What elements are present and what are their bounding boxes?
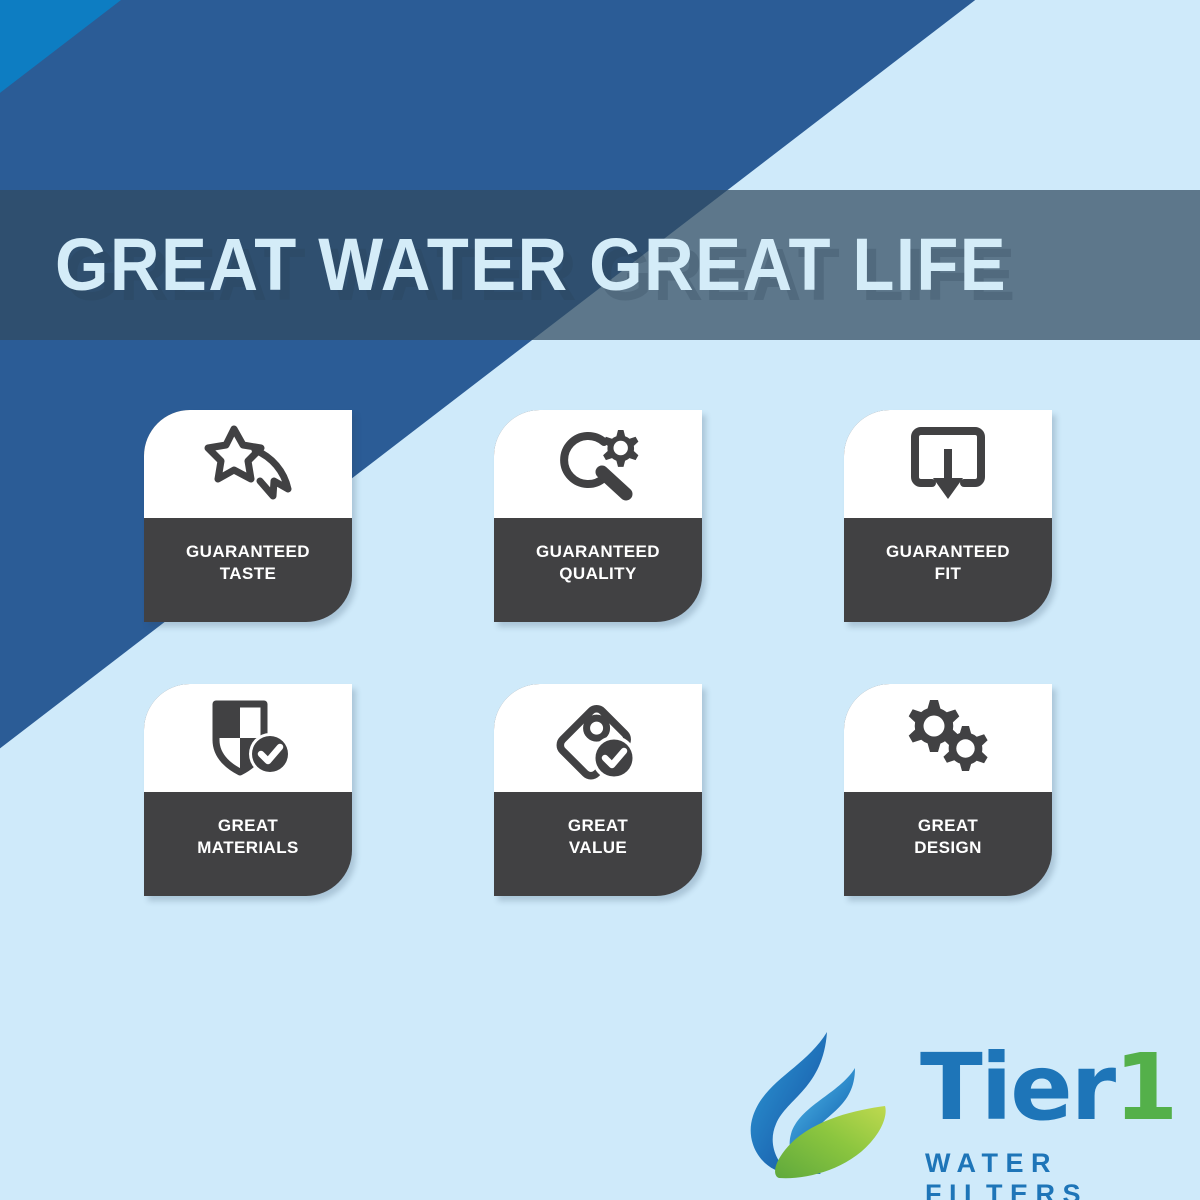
icon-panel [844, 684, 1052, 792]
card-label: GUARANTEED FIT [844, 518, 1052, 622]
card-label: GREAT VALUE [494, 792, 702, 896]
icon-panel [494, 684, 702, 792]
magnifier-gear-icon [550, 422, 646, 506]
feature-card-great-design[interactable]: GREAT DESIGN [844, 684, 1052, 896]
card-label: GUARANTEED TASTE [144, 518, 352, 622]
icon-panel [494, 410, 702, 518]
card-label: GUARANTEED QUALITY [494, 518, 702, 622]
feature-card-guaranteed-fit[interactable]: GUARANTEED FIT [844, 410, 1052, 622]
feature-card-guaranteed-taste[interactable]: GUARANTEED TASTE [144, 410, 352, 622]
icon-panel [144, 684, 352, 792]
feature-card-great-value[interactable]: GREAT VALUE [494, 684, 702, 896]
water-drop-leaf-icon [735, 1024, 905, 1189]
icon-panel [144, 410, 352, 518]
two-gears-icon [900, 696, 996, 780]
card-label: GREAT MATERIALS [144, 792, 352, 896]
shield-check-icon [202, 696, 294, 780]
feature-card-great-materials[interactable]: GREAT MATERIALS [144, 684, 352, 896]
brand-tagline: WATER FILTERS [925, 1148, 1175, 1200]
card-label: GREAT DESIGN [844, 792, 1052, 896]
brand-name: Tier [920, 1034, 1114, 1141]
brand-numeral: 1 [1114, 1034, 1176, 1141]
shooting-star-icon [200, 423, 296, 505]
marketing-graphic: GREAT WATER GREAT LIFE GUARANTEED TASTE [0, 0, 1200, 1200]
feature-card-guaranteed-quality[interactable]: GUARANTEED QUALITY [494, 410, 702, 622]
brand-logo: Tier1 TM WATER FILTERS [735, 1020, 1175, 1190]
icon-panel [844, 410, 1052, 518]
brand-wordmark: Tier1 TM [920, 1042, 1176, 1134]
insert-down-arrow-icon [905, 423, 991, 505]
price-tag-check-icon [550, 696, 646, 780]
